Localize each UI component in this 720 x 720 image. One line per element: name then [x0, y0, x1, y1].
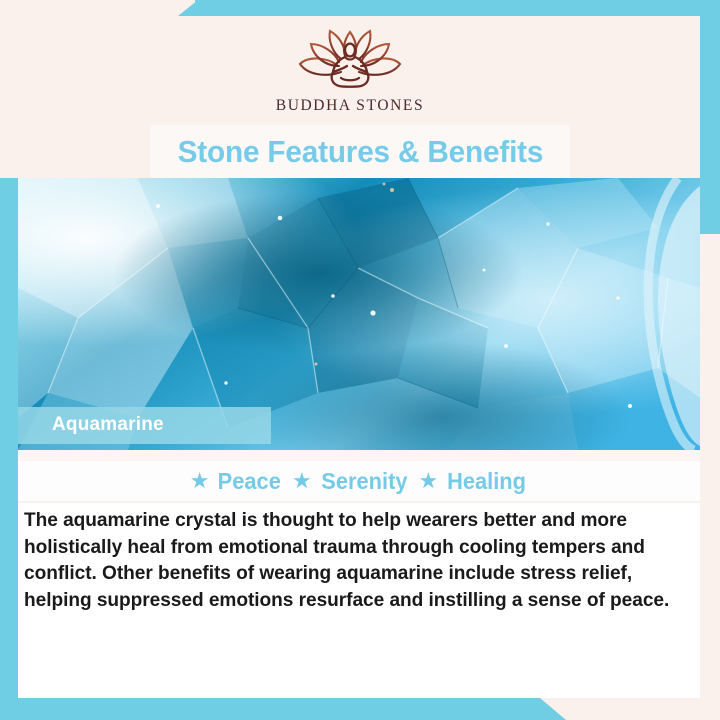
- keyword-label: Serenity: [321, 468, 407, 495]
- star-icon: ★: [292, 470, 312, 492]
- keyword-serenity: ★ Serenity: [292, 468, 410, 495]
- decorative-bottom-bar: [0, 698, 540, 720]
- aquamarine-crystal-photo: Aquamarine: [18, 178, 700, 450]
- stone-name: Aquamarine: [52, 414, 164, 435]
- star-icon: ★: [190, 470, 210, 492]
- keyword-peace: ★ Peace: [190, 468, 283, 495]
- keyword-healing: ★ Healing: [418, 468, 528, 495]
- stone-name-label: Aquamarine: [18, 407, 271, 444]
- decorative-left-bar: [0, 178, 18, 720]
- decorative-bottom-diagonal: [540, 698, 566, 720]
- keyword-row: ★ Peace ★ Serenity ★ Healing: [18, 461, 700, 501]
- lotus-meditation-icon: [294, 26, 406, 92]
- brand-name: BUDDHA STONES: [276, 97, 424, 115]
- page-title: Stone Features & Benefits: [177, 134, 543, 170]
- brand-logo: BUDDHA STONES: [276, 26, 424, 115]
- title-banner: Stone Features & Benefits: [150, 125, 570, 178]
- infographic-canvas: BUDDHA STONES Stone Features & Benefits: [0, 0, 720, 720]
- decorative-top-bar: [195, 0, 720, 16]
- description-panel: The aquamarine crystal is thought to hel…: [18, 503, 700, 698]
- keyword-label: Peace: [218, 468, 281, 495]
- star-icon: ★: [418, 470, 438, 492]
- decorative-right-bar: [700, 0, 720, 234]
- stone-description: The aquamarine crystal is thought to hel…: [24, 507, 669, 613]
- keyword-label: Healing: [447, 468, 526, 495]
